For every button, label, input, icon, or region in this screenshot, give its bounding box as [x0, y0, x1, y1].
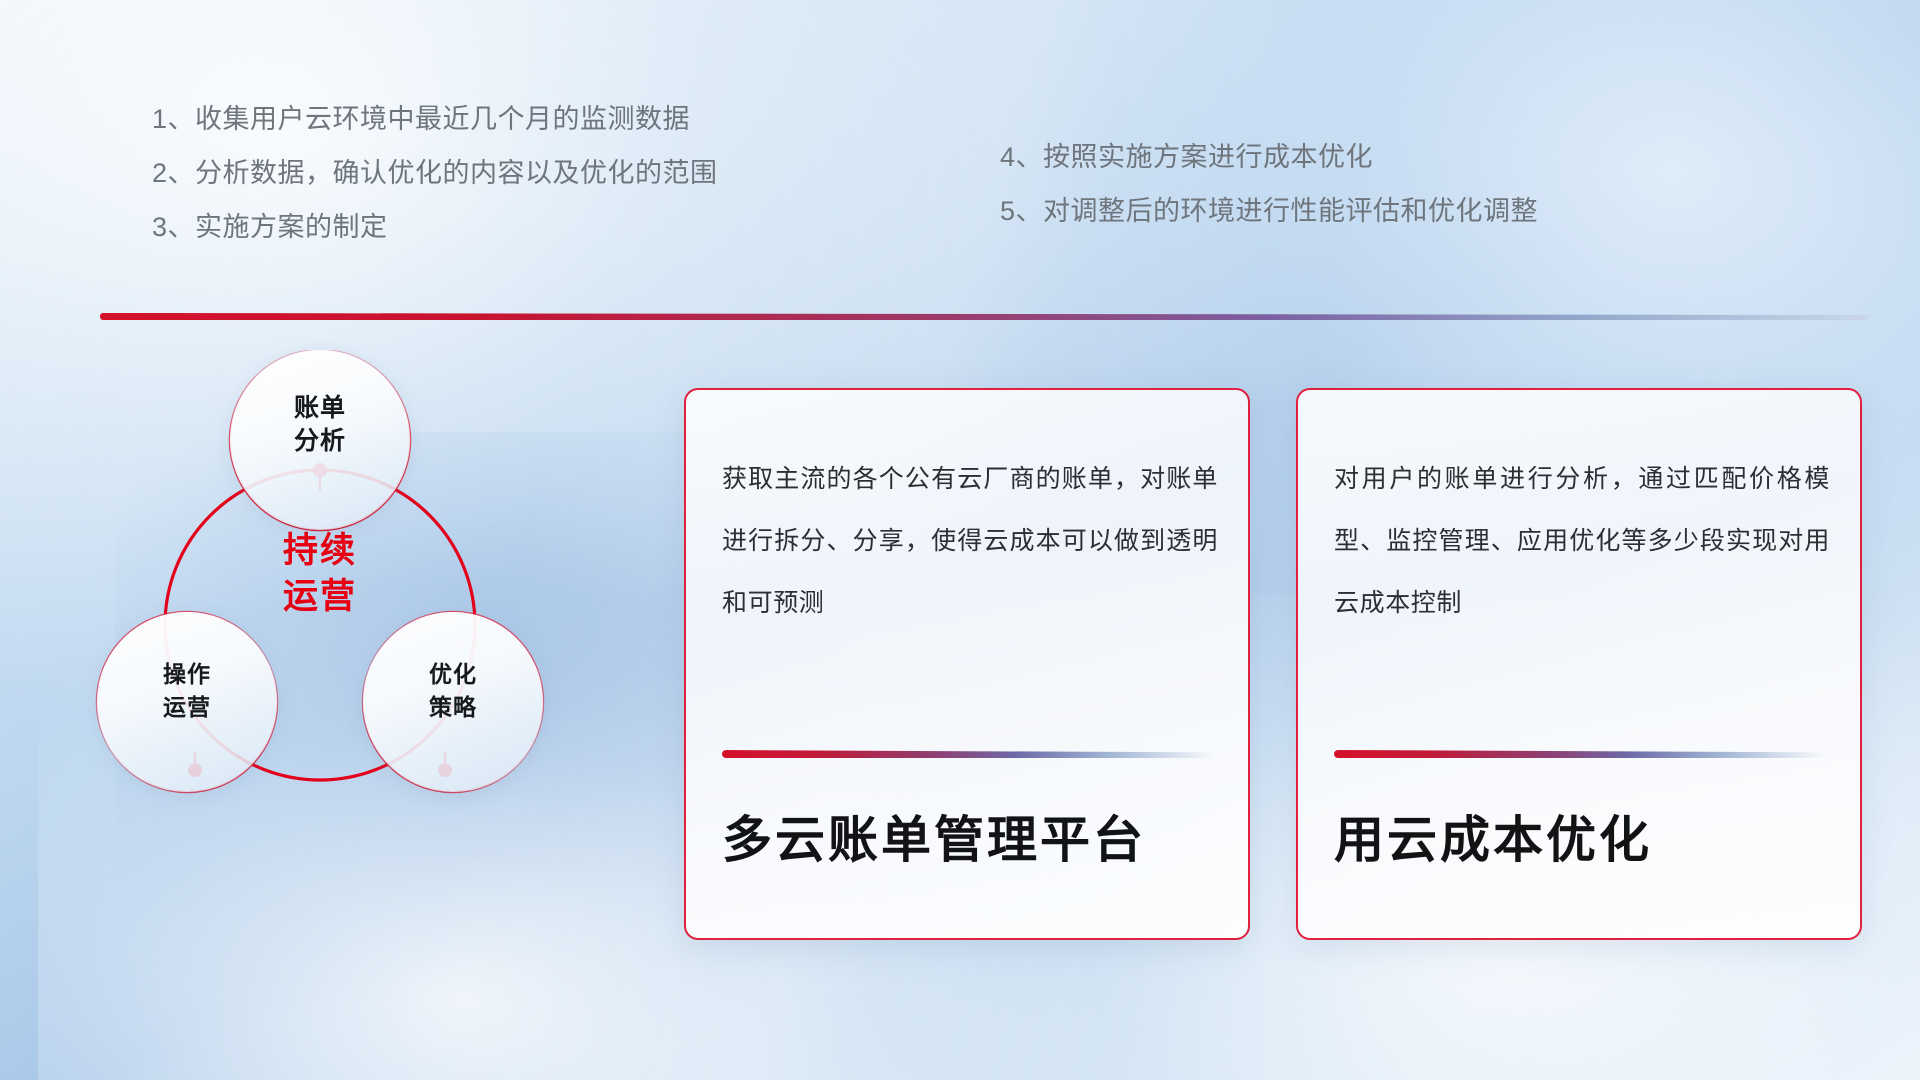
- venn-label-br-line1: 优化: [363, 658, 543, 691]
- card-left-title: 多云账单管理平台: [722, 808, 1216, 872]
- venn-diagram: 账单 分析 操作 运营 优化 策略 持续 运营: [95, 350, 605, 950]
- venn-label-bottom-right: 优化 策略: [363, 658, 543, 724]
- process-steps-list: 1、收集用户云环境中最近几个月的监测数据 2、分析数据，确认优化的内容以及优化的…: [0, 92, 1920, 262]
- venn-label-top: 账单 分析: [230, 392, 410, 458]
- venn-label-top-line1: 账单: [230, 392, 410, 425]
- venn-label-top-line2: 分析: [230, 425, 410, 458]
- venn-label-bl-line2: 运营: [97, 691, 277, 724]
- feature-card-multicloud-billing[interactable]: 获取主流的各个公有云厂商的账单，对账单进行拆分、分享，使得云成本可以做到透明和可…: [684, 388, 1250, 940]
- card-left-divider: [722, 750, 1214, 758]
- card-right-body: 对用户的账单进行分析，通过匹配价格模型、监控管理、应用优化等多少段实现对用云成本…: [1334, 448, 1830, 634]
- step-item-5: 5、对调整后的环境进行性能评估和优化调整: [1000, 184, 1538, 238]
- step-item-4: 4、按照实施方案进行成本优化: [1000, 130, 1538, 184]
- steps-right-column: 4、按照实施方案进行成本优化 5、对调整后的环境进行性能评估和优化调整: [1000, 130, 1538, 238]
- step-item-3: 3、实施方案的制定: [152, 200, 718, 254]
- step-item-1: 1、收集用户云环境中最近几个月的监测数据: [152, 92, 718, 146]
- steps-left-column: 1、收集用户云环境中最近几个月的监测数据 2、分析数据，确认优化的内容以及优化的…: [152, 92, 718, 254]
- venn-label-bl-line1: 操作: [97, 658, 277, 691]
- venn-center-label: 持续 运营: [225, 528, 415, 620]
- venn-label-bottom-left: 操作 运营: [97, 658, 277, 724]
- venn-center-line1: 持续: [225, 528, 415, 574]
- venn-center-line2: 运营: [225, 574, 415, 620]
- card-right-divider: [1334, 750, 1826, 758]
- venn-label-br-line2: 策略: [363, 691, 543, 724]
- step-item-2: 2、分析数据，确认优化的内容以及优化的范围: [152, 146, 718, 200]
- card-left-body: 获取主流的各个公有云厂商的账单，对账单进行拆分、分享，使得云成本可以做到透明和可…: [722, 448, 1218, 634]
- feature-card-cost-optimization[interactable]: 对用户的账单进行分析，通过匹配价格模型、监控管理、应用优化等多少段实现对用云成本…: [1296, 388, 1862, 940]
- card-right-title: 用云成本优化: [1334, 808, 1828, 872]
